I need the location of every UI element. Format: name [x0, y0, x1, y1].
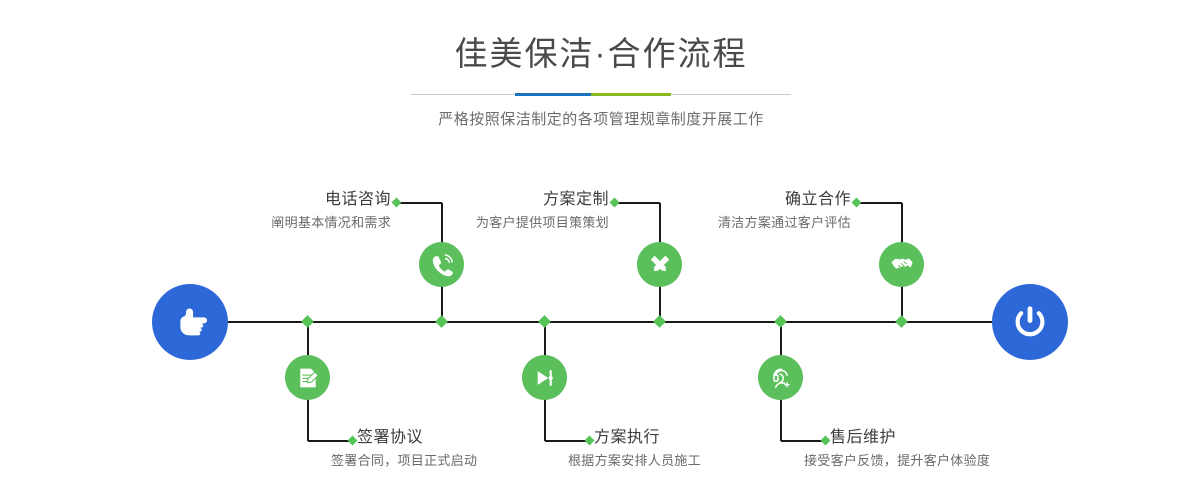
step-desc-6: 接受客户反馈，提升客户体验度	[804, 451, 1110, 471]
step-label-6: 售后维护 接受客户反馈，提升客户体验度	[830, 427, 1110, 471]
page-title: 佳美保洁·合作流程	[0, 32, 1202, 76]
connector-leader-step-4	[545, 440, 590, 442]
connector-leader-step-3	[615, 202, 660, 204]
label-marker-step-5	[852, 198, 862, 208]
step-desc-1: 阐明基本情况和需求	[153, 213, 391, 233]
title-divider	[411, 90, 791, 100]
step-icon-node-6[interactable]	[758, 355, 803, 400]
step-icon-node-2[interactable]	[285, 355, 330, 400]
handshake-icon	[889, 252, 915, 278]
step-icon-node-4[interactable]	[522, 355, 567, 400]
step-title-3: 方案定制	[371, 189, 609, 211]
pointing-hand-icon	[169, 301, 211, 343]
step-desc-3: 为客户提供项目策策划	[371, 213, 609, 233]
page-subtitle: 严格按照保洁制定的各项管理规章制度开展工作	[0, 109, 1202, 131]
connector-leader-step-1	[397, 202, 442, 204]
step-title-6: 售后维护	[830, 427, 1110, 449]
step-title-5: 确立合作	[613, 189, 851, 211]
label-marker-step-2	[348, 436, 358, 446]
step-label-3: 方案定制 为客户提供项目策策划	[371, 189, 609, 233]
step-icon-node-5[interactable]	[879, 242, 924, 287]
process-flow-infographic: 佳美保洁·合作流程 严格按照保洁制定的各项管理规章制度开展工作	[0, 0, 1202, 502]
timeline-start-node	[152, 284, 228, 360]
play-execute-icon	[532, 365, 558, 391]
axis-marker-step-5	[895, 315, 908, 328]
axis-marker-step-3	[653, 315, 666, 328]
document-sign-icon	[295, 365, 321, 391]
axis-marker-step-6	[774, 315, 787, 328]
step-title-1: 电话咨询	[153, 189, 391, 211]
header: 佳美保洁·合作流程 严格按照保洁制定的各项管理规章制度开展工作	[0, 32, 1202, 131]
divider-segment-blue	[515, 93, 591, 96]
step-title-2: 签署协议	[357, 427, 617, 449]
step-label-5: 确立合作 清洁方案通过客户评估	[613, 189, 851, 233]
connector-leader-step-6	[781, 440, 826, 442]
headset-support-icon	[768, 365, 794, 391]
axis-marker-step-4	[538, 315, 551, 328]
power-icon	[1008, 300, 1052, 344]
step-icon-node-3[interactable]	[637, 242, 682, 287]
step-label-1: 电话咨询 阐明基本情况和需求	[153, 189, 391, 233]
phone-call-icon	[429, 252, 455, 278]
connector-leader-step-2	[308, 440, 353, 442]
pencil-design-icon	[647, 252, 673, 278]
axis-marker-step-1	[435, 315, 448, 328]
timeline-end-node	[992, 284, 1068, 360]
divider-segment-green	[591, 93, 671, 96]
connector-leader-step-5	[857, 202, 902, 204]
step-icon-node-1[interactable]	[419, 242, 464, 287]
step-desc-5: 清洁方案通过客户评估	[613, 213, 851, 233]
axis-marker-step-2	[301, 315, 314, 328]
step-title-4: 方案执行	[594, 427, 854, 449]
